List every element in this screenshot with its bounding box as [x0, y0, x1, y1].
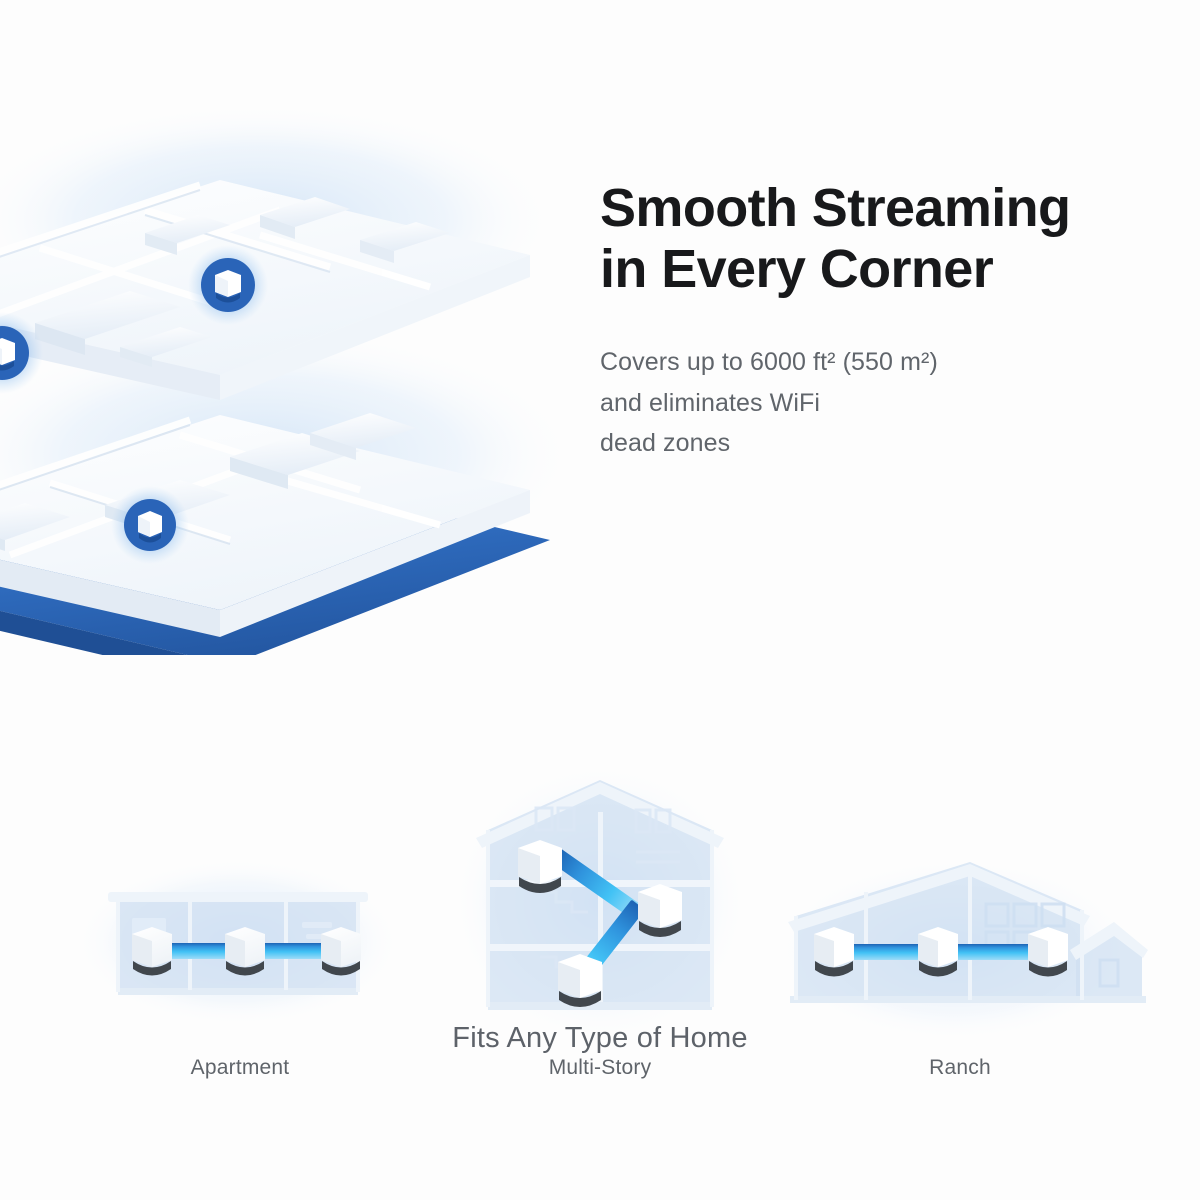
mesh-unit	[558, 954, 602, 1007]
mesh-unit	[918, 927, 958, 977]
mesh-unit	[321, 927, 361, 976]
mesh-unit	[1028, 927, 1068, 977]
mesh-unit	[638, 884, 682, 937]
mesh-node-marker[interactable]	[188, 245, 268, 325]
mesh-unit	[225, 927, 265, 976]
hero-copy-block: Smooth Streaming in Every Corner Covers …	[600, 178, 1160, 464]
home-type-label: Ranch	[929, 1056, 991, 1080]
page-title: Smooth Streaming in Every Corner	[600, 178, 1160, 300]
mesh-unit	[132, 927, 172, 976]
mesh-node-marker[interactable]	[111, 486, 189, 564]
multi-story-house-icon	[440, 752, 760, 1042]
mesh-unit	[814, 927, 854, 977]
home-type-label: Multi-Story	[549, 1056, 652, 1080]
ranch-house-icon	[770, 752, 1150, 1042]
hero-subcopy: Covers up to 6000 ft² (550 m²) and elimi…	[600, 342, 1160, 464]
hero-section: Smooth Streaming in Every Corner Covers …	[0, 0, 1200, 660]
mesh-unit	[518, 840, 562, 893]
home-types-section: Apartment	[0, 660, 1200, 1080]
home-type-label: Apartment	[191, 1056, 290, 1080]
floorplan-illustration	[0, 85, 590, 655]
footer-caption: Fits Any Type of Home	[0, 1022, 1200, 1055]
apartment-icon	[70, 752, 410, 1042]
